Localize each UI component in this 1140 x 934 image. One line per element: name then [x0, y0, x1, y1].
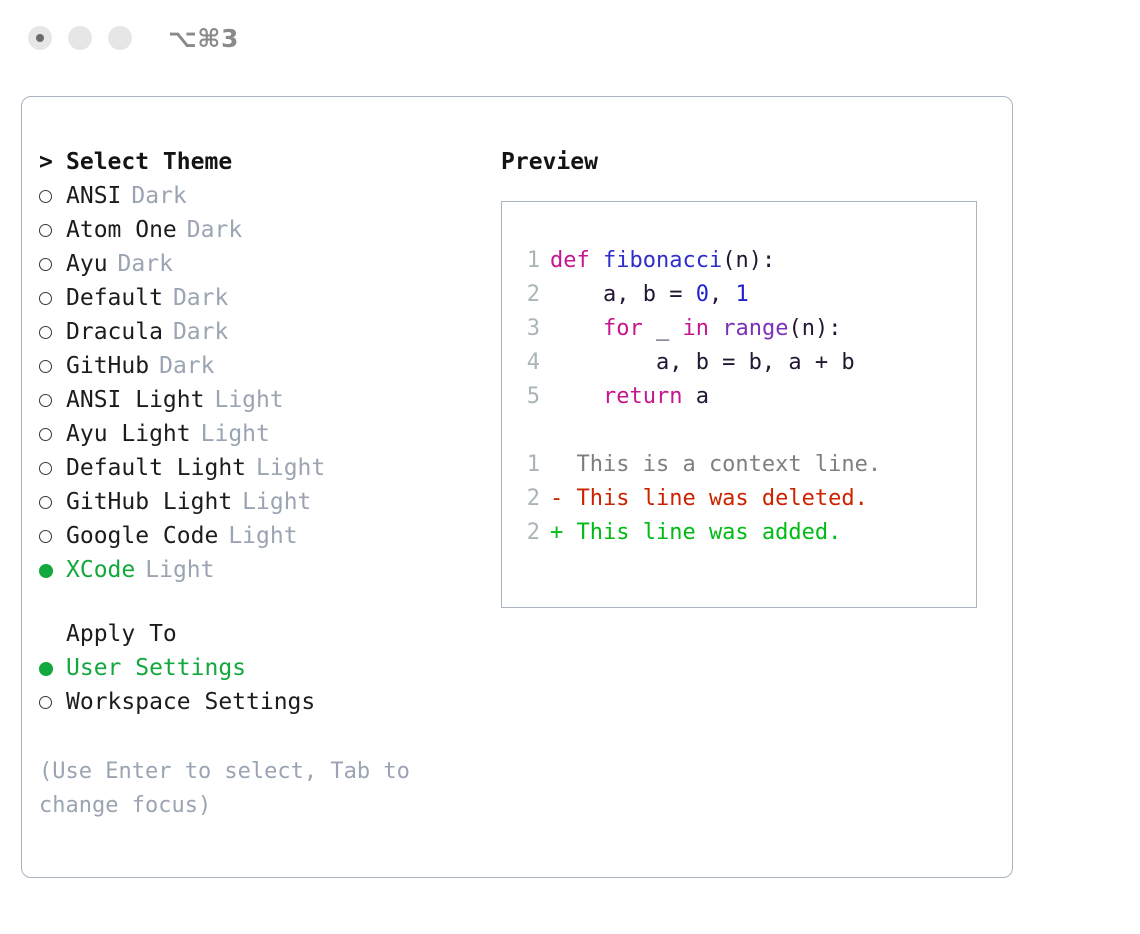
preview-column: Preview 1def fibonacci(n):2 a, b = 0, 13… — [501, 145, 1001, 608]
diff-line-number: 2 — [516, 482, 540, 516]
diff-line: 1 This is a context line. — [516, 448, 970, 482]
code-token — [550, 384, 603, 409]
code-token: for — [603, 316, 643, 341]
code-token: def — [550, 248, 603, 273]
radio-ring — [39, 360, 52, 373]
radio-filled-dot — [39, 564, 53, 578]
keyboard-shortcut-label: ⌥⌘3 — [168, 24, 239, 53]
radio-ring — [39, 224, 52, 237]
radio-unselected-icon[interactable] — [39, 485, 66, 519]
code-line-number: 4 — [516, 346, 540, 380]
radio-unselected-icon[interactable] — [39, 349, 66, 383]
theme-list-item[interactable]: DefaultDark — [39, 281, 509, 315]
code-token: n — [802, 316, 815, 341]
diff-sample: 1 This is a context line.2- This line wa… — [516, 448, 970, 550]
theme-list-item[interactable]: ANSI LightLight — [39, 383, 509, 417]
theme-list-item-meta: Dark — [187, 217, 242, 243]
theme-list-item-label: Atom One — [66, 217, 177, 243]
theme-list-item-meta: Dark — [131, 183, 186, 209]
theme-list-item-label: GitHub Light — [66, 489, 232, 515]
preview-box: 1def fibonacci(n):2 a, b = 0, 13 for _ i… — [501, 201, 977, 608]
select-theme-heading-label: Select Theme — [66, 149, 232, 175]
code-token: , — [709, 282, 736, 307]
code-token: n — [735, 248, 748, 273]
theme-list-item[interactable]: GitHub LightLight — [39, 485, 509, 519]
theme-list-item[interactable]: DraculaDark — [39, 315, 509, 349]
theme-list-item-meta: Dark — [118, 251, 173, 277]
window-controls[interactable] — [28, 26, 132, 50]
radio-ring — [39, 258, 52, 271]
theme-list-item-label: Ayu — [66, 251, 108, 277]
code-line: 1def fibonacci(n): — [516, 244, 970, 278]
keyboard-hint-text: (Use Enter to select, Tab to change focu… — [39, 755, 439, 823]
radio-ring — [39, 496, 52, 509]
theme-list-item-meta: Dark — [173, 319, 228, 345]
select-theme-heading: >Select Theme — [39, 145, 509, 179]
caret-icon: > — [39, 145, 66, 179]
apply-to-heading: >Apply To — [39, 617, 509, 651]
radio-selected-icon[interactable] — [39, 553, 66, 587]
radio-ring — [39, 696, 52, 709]
theme-list-item-label: GitHub — [66, 353, 149, 379]
theme-list-item-meta: Dark — [159, 353, 214, 379]
diff-line-text: - This line was deleted. — [550, 486, 868, 511]
radio-unselected-icon[interactable] — [39, 685, 66, 719]
diff-line: 2+ This line was added. — [516, 516, 970, 550]
preview-code: 1def fibonacci(n):2 a, b = 0, 13 for _ i… — [516, 244, 970, 550]
theme-selector-column: >Select Theme ANSIDarkAtom OneDarkAyuDar… — [39, 145, 509, 823]
radio-unselected-icon[interactable] — [39, 383, 66, 417]
code-token: return — [603, 384, 682, 409]
radio-unselected-icon[interactable] — [39, 451, 66, 485]
radio-unselected-icon[interactable] — [39, 179, 66, 213]
apply-to-list: User SettingsWorkspace Settings — [39, 651, 509, 719]
radio-unselected-icon[interactable] — [39, 247, 66, 281]
radio-ring — [39, 428, 52, 441]
code-token: ( — [788, 316, 801, 341]
theme-list-item-meta: Light — [201, 421, 270, 447]
theme-list-item-label: Default — [66, 285, 163, 311]
radio-unselected-icon[interactable] — [39, 417, 66, 451]
radio-ring — [39, 462, 52, 475]
theme-list-item-label: Default Light — [66, 455, 246, 481]
theme-list-item-meta: Dark — [173, 285, 228, 311]
code-token: a — [682, 384, 709, 409]
diff-line-number: 1 — [516, 448, 540, 482]
code-token: a, b = b, a + b — [550, 350, 855, 375]
code-line-number: 3 — [516, 312, 540, 346]
radio-filled-dot — [39, 662, 53, 676]
theme-list-item-label: XCode — [66, 557, 135, 583]
theme-list-item-meta: Light — [242, 489, 311, 515]
radio-unselected-icon[interactable] — [39, 315, 66, 349]
active-dot-inner — [36, 34, 44, 42]
code-sample: 1def fibonacci(n):2 a, b = 0, 13 for _ i… — [516, 244, 970, 414]
theme-list-item-label: ANSI — [66, 183, 121, 209]
code-token — [709, 316, 722, 341]
section-spacer — [39, 587, 509, 617]
code-token: 0 — [696, 282, 709, 307]
window-control-dot-2[interactable] — [68, 26, 92, 50]
radio-unselected-icon[interactable] — [39, 213, 66, 247]
apply-list-item-label: User Settings — [66, 655, 246, 681]
diff-line-text: + This line was added. — [550, 520, 841, 545]
radio-ring — [39, 326, 52, 339]
code-token — [550, 316, 603, 341]
code-token: ): — [749, 248, 776, 273]
theme-list-item-label: Ayu Light — [66, 421, 191, 447]
radio-ring — [39, 292, 52, 305]
theme-list-item[interactable]: ANSIDark — [39, 179, 509, 213]
code-line-number: 1 — [516, 244, 540, 278]
code-line: 5 return a — [516, 380, 970, 414]
theme-list-item[interactable]: Default LightLight — [39, 451, 509, 485]
theme-list-item[interactable]: Ayu LightLight — [39, 417, 509, 451]
radio-unselected-icon[interactable] — [39, 281, 66, 315]
theme-list: ANSIDarkAtom OneDarkAyuDarkDefaultDarkDr… — [39, 179, 509, 587]
theme-list-item[interactable]: Google CodeLight — [39, 519, 509, 553]
preview-heading: Preview — [501, 145, 1001, 179]
apply-list-item-label: Workspace Settings — [66, 689, 315, 715]
radio-ring — [39, 190, 52, 203]
code-line-number: 2 — [516, 278, 540, 312]
code-token: ( — [722, 248, 735, 273]
diff-line: 2- This line was deleted. — [516, 482, 970, 516]
code-token: a, b = — [550, 282, 696, 307]
radio-selected-icon[interactable] — [39, 651, 66, 685]
radio-unselected-icon[interactable] — [39, 519, 66, 553]
code-line: 4 a, b = b, a + b — [516, 346, 970, 380]
panel-columns: >Select Theme ANSIDarkAtom OneDarkAyuDar… — [22, 97, 1012, 877]
apply-to-heading-label: Apply To — [66, 621, 177, 647]
code-token: 1 — [735, 282, 748, 307]
code-token: _ — [643, 316, 683, 341]
diff-line-number: 2 — [516, 516, 540, 550]
theme-list-item-meta: Light — [228, 523, 297, 549]
code-token: range — [722, 316, 788, 341]
theme-list-item[interactable]: XCodeLight — [39, 553, 509, 587]
window-control-dot-3[interactable] — [108, 26, 132, 50]
theme-list-item[interactable]: AyuDark — [39, 247, 509, 281]
code-token: ): — [815, 316, 842, 341]
code-line-number: 5 — [516, 380, 540, 414]
title-bar: ⌥⌘3 — [0, 0, 1140, 78]
theme-list-item[interactable]: GitHubDark — [39, 349, 509, 383]
main-panel: >Select Theme ANSIDarkAtom OneDarkAyuDar… — [21, 96, 1013, 878]
radio-ring — [39, 394, 52, 407]
code-diff-gap — [516, 414, 970, 448]
theme-list-item-label: ANSI Light — [66, 387, 204, 413]
theme-list-item-meta: Light — [256, 455, 325, 481]
theme-list-item-label: Dracula — [66, 319, 163, 345]
window-control-dot-active[interactable] — [28, 26, 52, 50]
theme-list-item-meta: Light — [145, 557, 214, 583]
app-window: ⌥⌘3 >Select Theme ANSIDarkAtom OneDarkAy… — [0, 0, 1140, 934]
apply-list-item[interactable]: User Settings — [39, 651, 509, 685]
code-token: fibonacci — [603, 248, 722, 273]
radio-ring — [39, 530, 52, 543]
apply-list-item[interactable]: Workspace Settings — [39, 685, 509, 719]
code-line: 3 for _ in range(n): — [516, 312, 970, 346]
theme-list-item-meta: Light — [214, 387, 283, 413]
code-token: in — [682, 316, 709, 341]
code-line: 2 a, b = 0, 1 — [516, 278, 970, 312]
theme-list-item-label: Google Code — [66, 523, 218, 549]
theme-list-item[interactable]: Atom OneDark — [39, 213, 509, 247]
diff-line-text: This is a context line. — [550, 452, 881, 477]
